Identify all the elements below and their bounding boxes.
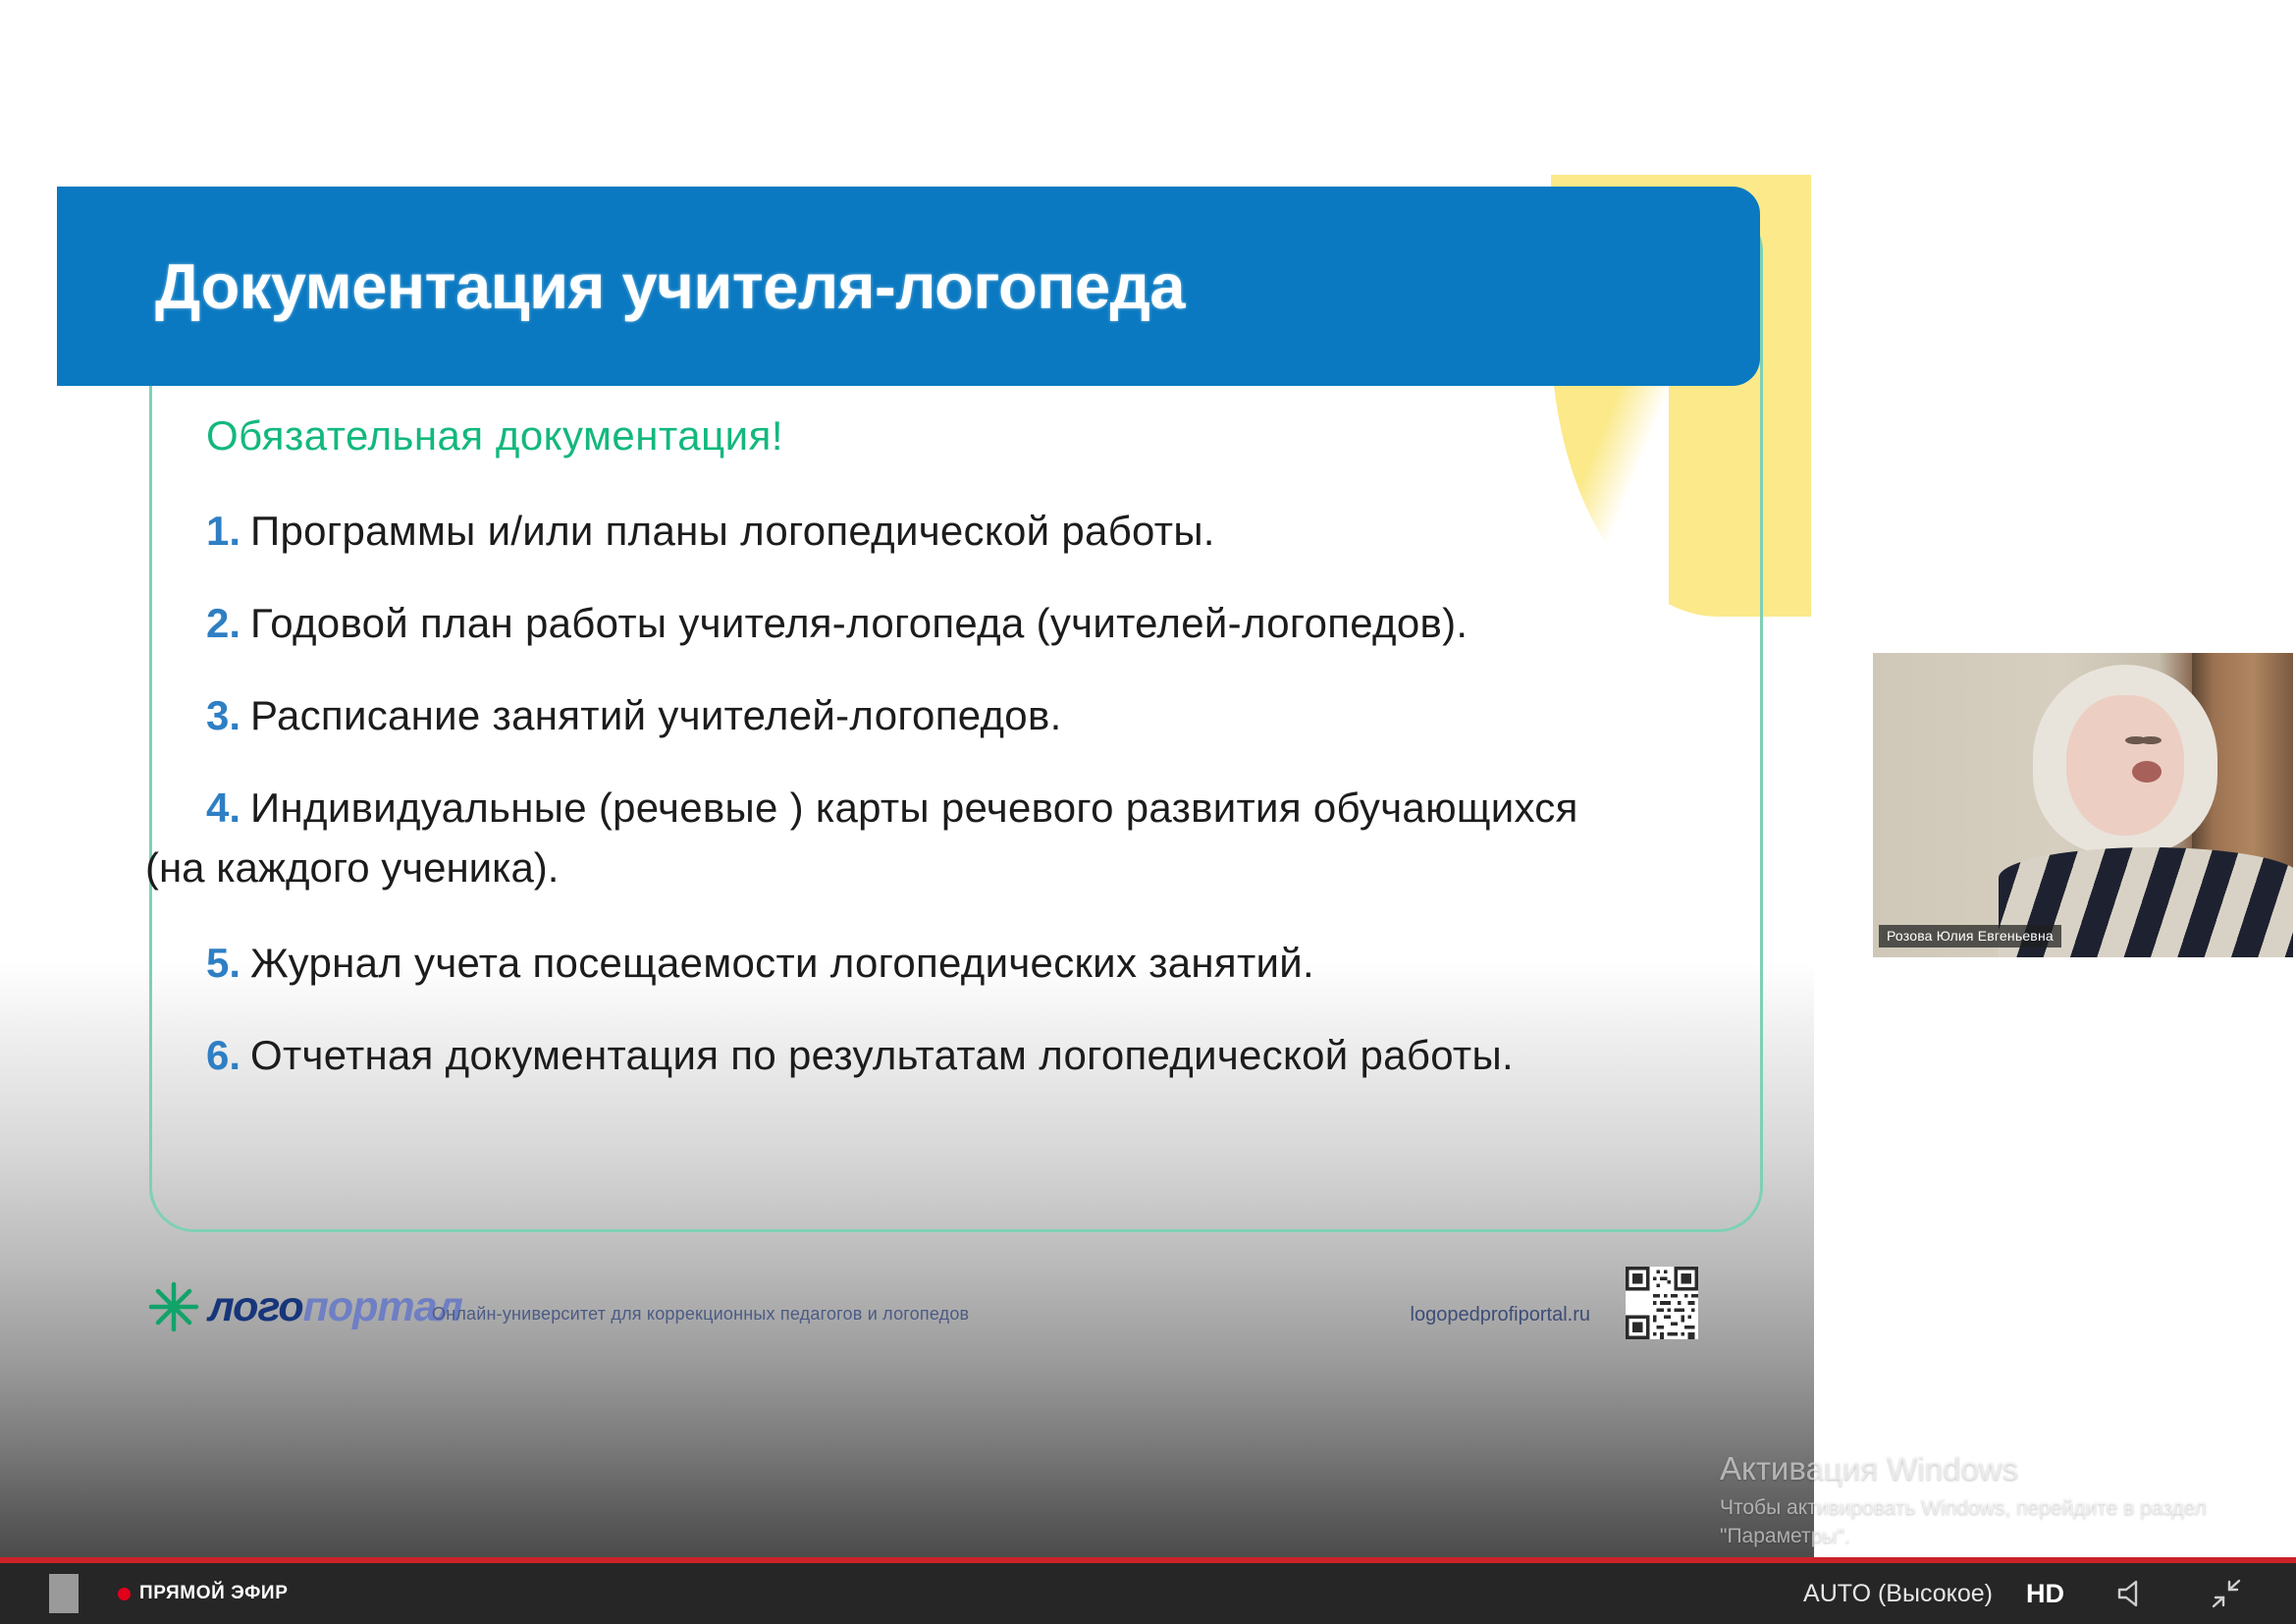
player-right-controls: AUTO (Высокое) HD: [1803, 1578, 2243, 1609]
brand-word-part1: лого: [208, 1283, 303, 1330]
live-label: ПРЯМОЙ ЭФИР: [139, 1583, 288, 1604]
logoportal-logo: логопортал: [147, 1280, 462, 1333]
list-item-number: 6.: [206, 1032, 240, 1078]
live-indicator[interactable]: ПРЯМОЙ ЭФИР: [118, 1583, 288, 1604]
list-item-number: 5.: [206, 940, 240, 986]
exit-fullscreen-icon[interactable]: [2210, 1578, 2243, 1609]
list-item-number: 3.: [206, 692, 240, 738]
list-item-text: Индивидуальные (речевые ) карты речевого…: [250, 785, 1578, 831]
pause-button[interactable]: [49, 1574, 79, 1613]
list-item-text: Отчетная документация по результатам лог…: [250, 1032, 1514, 1078]
speaker-face: [2066, 695, 2184, 836]
list-item-number: 2.: [206, 600, 240, 646]
speaker-name-label: Розова Юлия Евгеньевна: [1879, 925, 2061, 947]
list-item: 6.Отчетная документация по результатам л…: [206, 1035, 1737, 1076]
hd-badge[interactable]: HD: [2026, 1579, 2064, 1609]
qr-code-icon: [1626, 1267, 1698, 1339]
list-item: 1.Программы и/или планы логопедической р…: [206, 511, 1737, 552]
list-item-text: Расписание занятий учителей-логопедов.: [250, 692, 1062, 738]
list-item-number: 1.: [206, 508, 240, 554]
list-item-text: Годовой план работы учителя-логопеда (уч…: [250, 600, 1468, 646]
speaker-mouth: [2132, 761, 2162, 783]
footer-site-url: logopedprofiportal.ru: [1411, 1304, 1590, 1326]
list-item-continuation: (на каждого ученика).: [145, 844, 1737, 892]
list-item: 5.Журнал учета посещаемости логопедическ…: [206, 943, 1737, 984]
slide-footer: логопортал Онлайн-университет для коррек…: [128, 1267, 1787, 1384]
video-player: Документация учителя-логопеда Обязательн…: [0, 0, 2296, 1624]
list-item-text: Журнал учета посещаемости логопедических…: [250, 940, 1314, 986]
player-control-bar: ПРЯМОЙ ЭФИР AUTO (Высокое) HD: [0, 1563, 2296, 1624]
list-item: 4.Индивидуальные (речевые ) карты речево…: [206, 787, 1737, 829]
speaker-icon[interactable]: [2115, 1579, 2149, 1608]
list-item-number: 4.: [206, 785, 240, 831]
list-item: 3.Расписание занятий учителей-логопедов.: [206, 695, 1737, 736]
brand-wordmark: логопортал: [208, 1283, 462, 1331]
footer-tagline: Онлайн-университет для коррекционных пед…: [432, 1304, 969, 1325]
slide-header-bar: Документация учителя-логопеда: [57, 187, 1760, 386]
slide-body: Обязательная документация! 1.Программы и…: [206, 412, 1737, 1127]
slide-title: Документация учителя-логопеда: [155, 249, 1185, 323]
speaker-eye-right: [2140, 736, 2162, 744]
presentation-slide: Документация учителя-логопеда Обязательн…: [0, 0, 1814, 1561]
list-item: 2.Годовой план работы учителя-логопеда (…: [206, 603, 1737, 644]
asterisk-star-icon: [147, 1280, 200, 1333]
list-item-text: Программы и/или планы логопедической раб…: [250, 508, 1215, 554]
quality-selector[interactable]: AUTO (Высокое): [1803, 1580, 1993, 1608]
live-dot-icon: [118, 1588, 131, 1600]
slide-subtitle: Обязательная документация!: [206, 412, 1737, 460]
webcam-overlay[interactable]: Розова Юлия Евгеньевна: [1870, 650, 2296, 960]
